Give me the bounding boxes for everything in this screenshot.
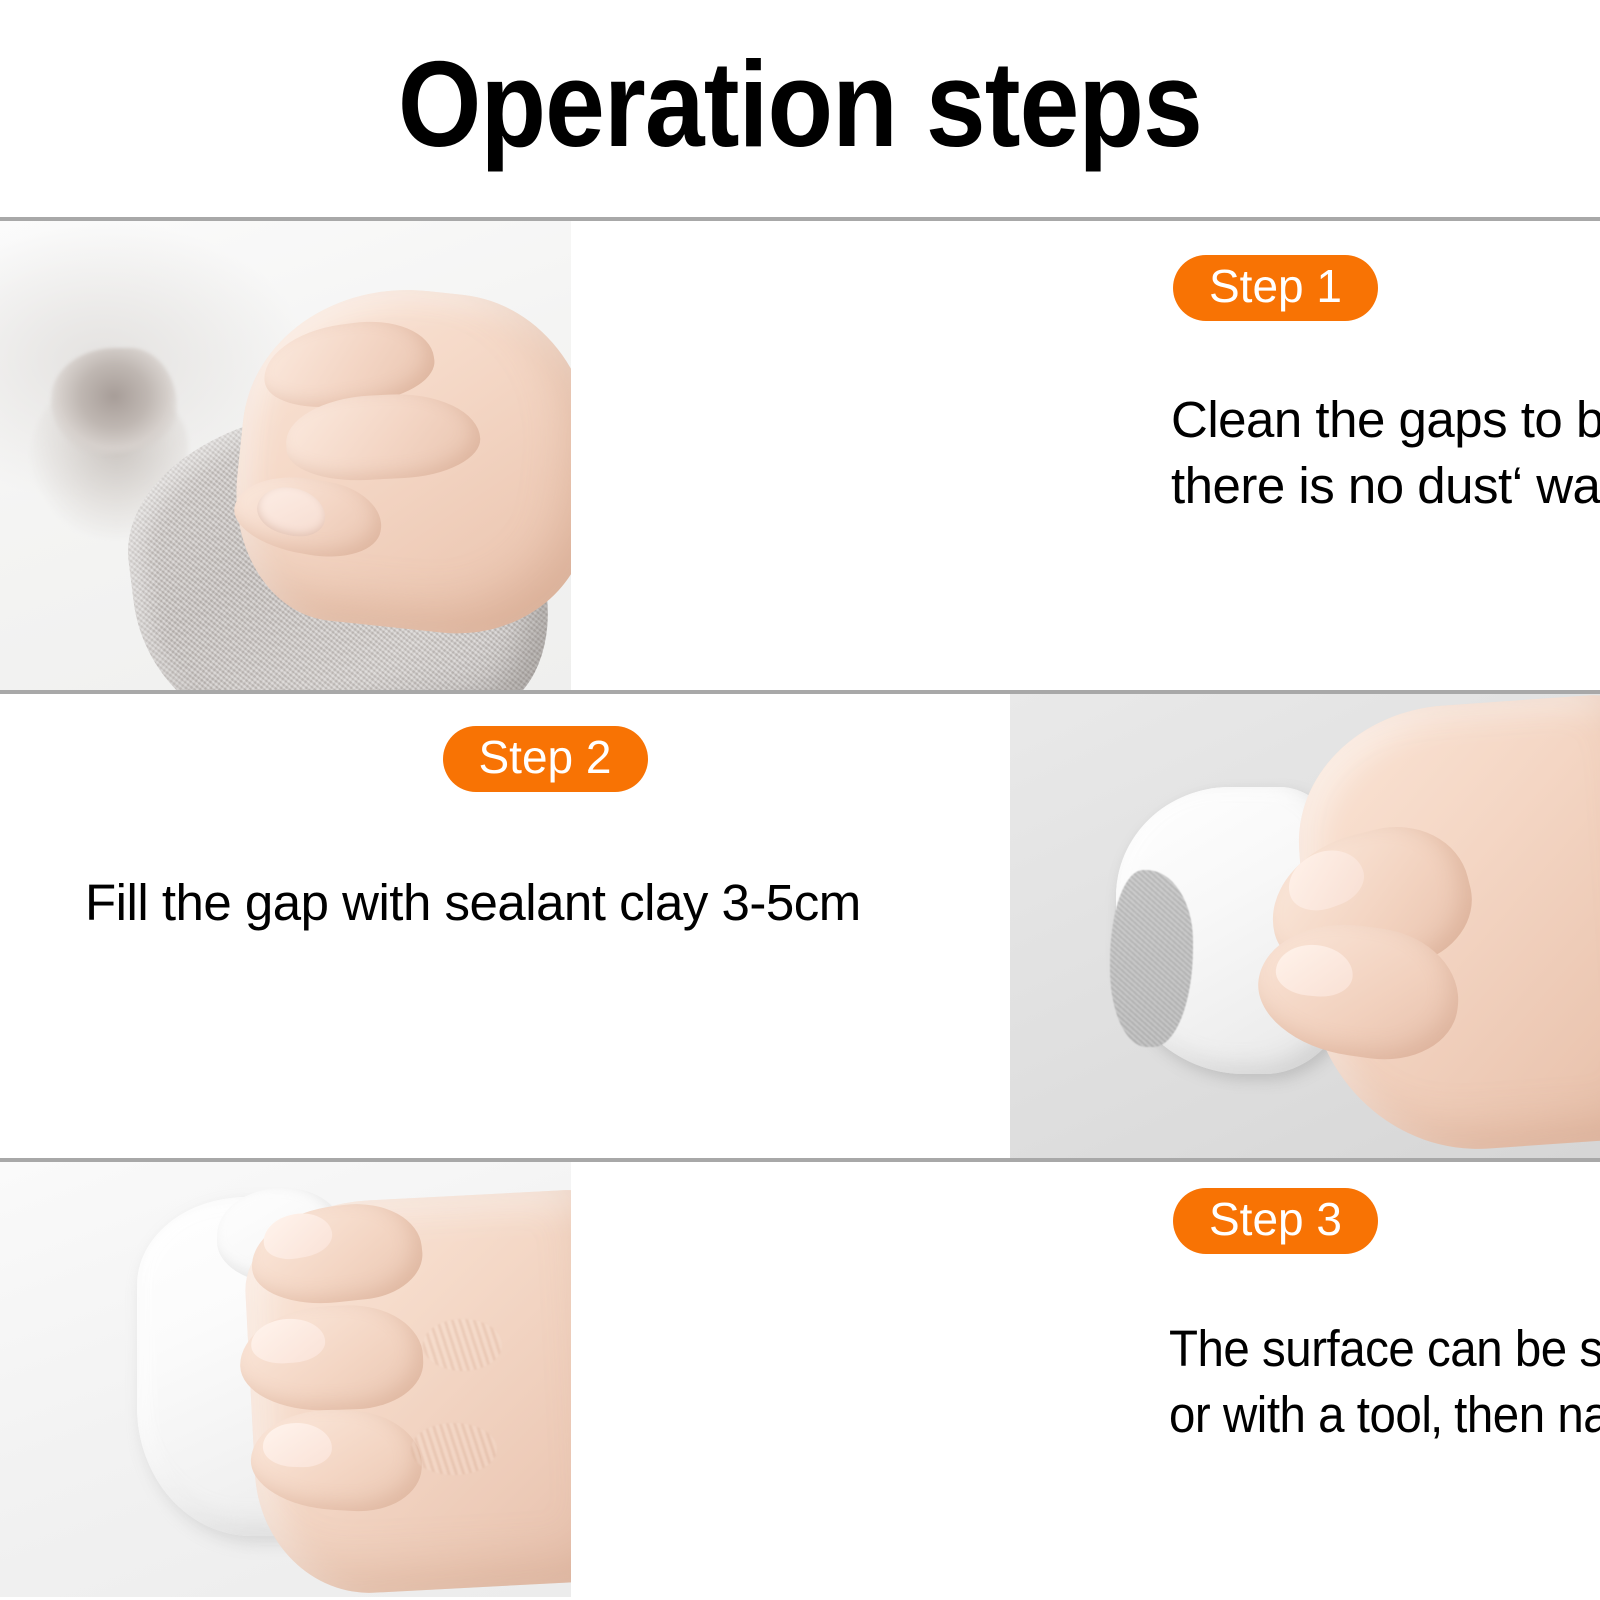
photo-applying-clay <box>1010 694 1600 1158</box>
step-3-badge-label: Step 3 <box>1209 1196 1342 1242</box>
step-2-badge-wrap: Step 2 <box>0 694 1010 792</box>
page-title: Operation steps <box>398 43 1202 165</box>
step-2-badge-label: Step 2 <box>479 734 612 780</box>
step-2-photo <box>1010 694 1600 1158</box>
step-1-content: Step 1 Clean the gaps to be sealed to en… <box>571 221 1600 690</box>
knuckle-2 <box>411 1423 497 1475</box>
wall-rough-edge <box>1110 870 1193 1046</box>
step-1-description: Clean the gaps to be sealed to ensure th… <box>1171 387 1600 520</box>
knuckle-1 <box>423 1319 503 1371</box>
step-1-badge: Step 1 <box>1173 255 1378 321</box>
step-2-content: Step 2 Fill the gap with sealant clay 3-… <box>0 694 1010 1158</box>
wall-hole <box>51 348 177 456</box>
step-3-photo <box>0 1162 571 1597</box>
step-3-badge-wrap: Step 3 <box>571 1162 1600 1254</box>
step-3-badge: Step 3 <box>1173 1188 1378 1254</box>
step-2-badge: Step 2 <box>443 726 648 792</box>
step-3-description: The surface can be smoothed by hand or w… <box>1169 1316 1600 1449</box>
photo-wall-cleaning <box>0 221 571 690</box>
step-3-content: Step 3 The surface can be smoothed by ha… <box>571 1162 1600 1597</box>
step-row-3: Step 3 The surface can be smoothed by ha… <box>0 1162 1600 1597</box>
step-1-photo <box>0 221 571 690</box>
step-2-description: Fill the gap with sealant clay 3-5cm <box>85 870 985 936</box>
photo-smoothing-clay <box>0 1162 571 1597</box>
page-header: Operation steps <box>0 0 1600 217</box>
step-1-badge-label: Step 1 <box>1209 263 1342 309</box>
step-row-1: Step 1 Clean the gaps to be sealed to en… <box>0 221 1600 690</box>
step-1-badge-wrap: Step 1 <box>571 221 1600 321</box>
step-row-2: Step 2 Fill the gap with sealant clay 3-… <box>0 694 1600 1158</box>
